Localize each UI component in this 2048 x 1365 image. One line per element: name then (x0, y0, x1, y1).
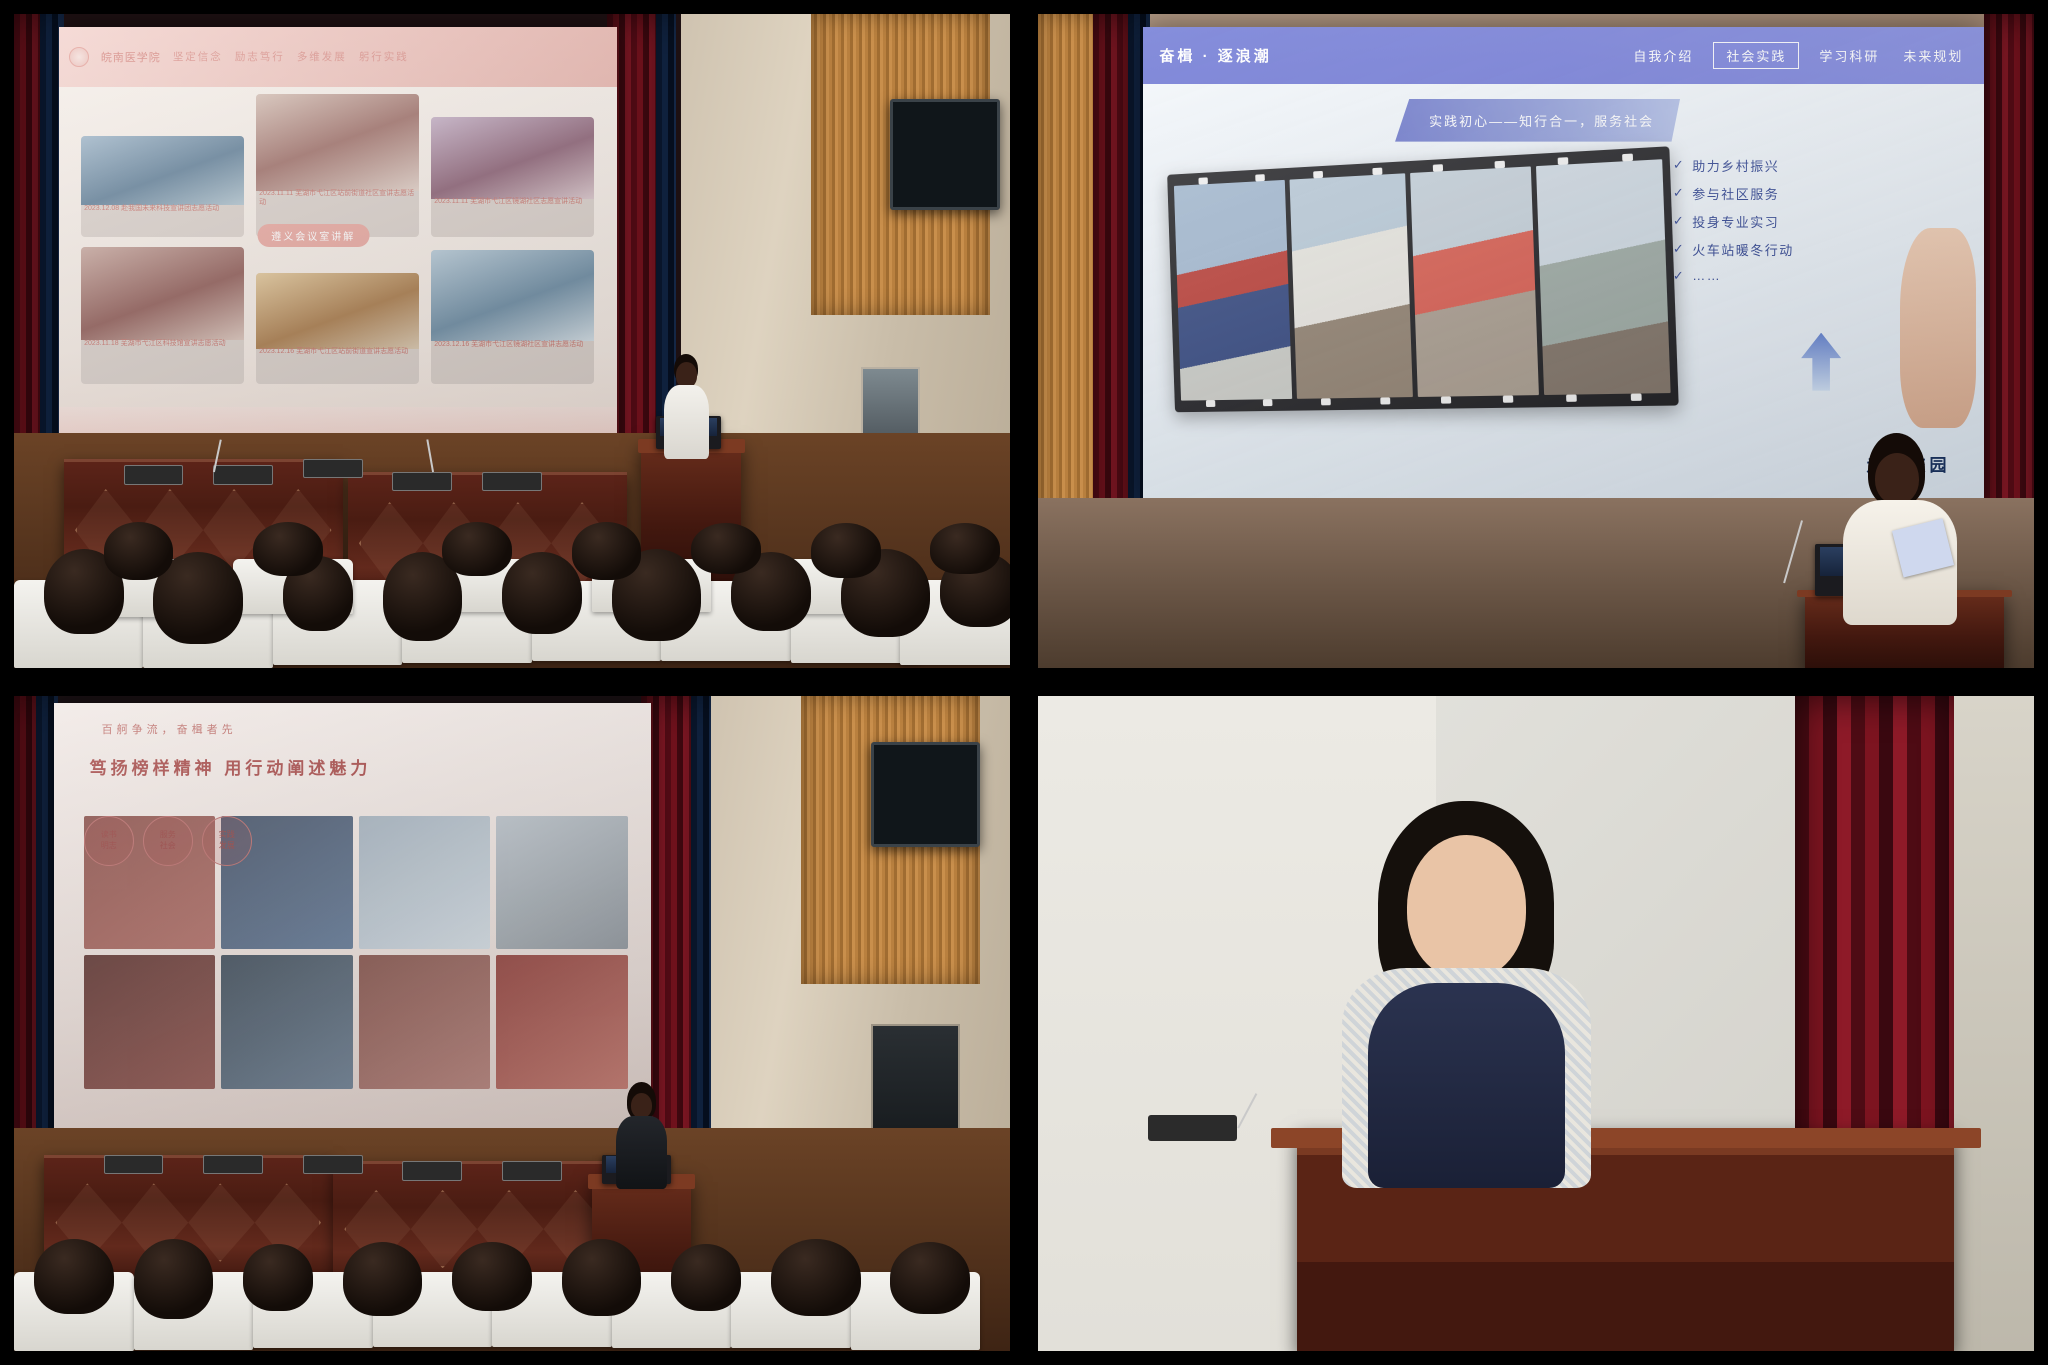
photo-caption: 2023.12.08 赴我国未来科技宣讲团志愿活动 (81, 203, 244, 237)
bullet-label: 火车站暖冬行动 (1692, 240, 1794, 259)
audience-head (691, 523, 761, 574)
presenter-female-closeup (1337, 801, 1596, 1181)
projection-screen: 百舸争流，奋楫者先 笃扬榜样精神 用行动阐述魅力 读 (54, 703, 652, 1175)
slogan-3: 多维发展 (297, 49, 347, 64)
slide-title: 奋楫 · 逐浪潮 (1159, 45, 1271, 66)
presenter-head (1875, 453, 1919, 504)
panel-bottom-left-photo: 百舸争流，奋楫者先 笃扬榜样精神 用行动阐述魅力 读 (14, 696, 1010, 1351)
panel-top-right: 奋楫 · 逐浪潮 自我介绍 社会实践 学习科研 未来规划 实践初心——知行合一，… (1024, 0, 2048, 682)
audience-head (442, 522, 512, 576)
circle-line-2: 发展 (219, 841, 235, 851)
slide-photo (359, 816, 490, 950)
panel-bottom-right-photo: ThinkPad (1038, 696, 2034, 1351)
audience-area (14, 1207, 1010, 1351)
bullet-label: 投身专业实习 (1692, 212, 1779, 231)
perforation (1503, 395, 1514, 402)
perforation (1321, 398, 1331, 405)
slide-photo (221, 955, 352, 1089)
bullet-item: ✓ 参与社区服务 (1673, 184, 1959, 203)
up-arrow-icon (1801, 333, 1841, 391)
presenter-female (612, 1082, 672, 1187)
photo-card: 2023.11.11 芜湖市弋江区镜湖社区志愿宣讲活动 (431, 117, 594, 238)
slogan-4: 躬行实践 (359, 49, 409, 64)
film-frame-outdoor-activity (1536, 159, 1671, 395)
check-icon: ✓ (1673, 241, 1685, 257)
audience-area (14, 498, 1010, 668)
slide-header-bar: 皖南医学院 坚定信念 励志笃行 多维发展 躬行实践 (59, 27, 617, 87)
circle-line-1: 实践 (219, 830, 235, 840)
audience-head (771, 1239, 861, 1317)
filmstrip-graphic (1168, 146, 1680, 412)
check-icon: ✓ (1673, 213, 1685, 229)
photo-card: 2023.11.18 芜湖市弋江区科技馆宣讲志愿活动 (81, 247, 244, 384)
audience-head (343, 1242, 423, 1317)
presenter-head (631, 1093, 653, 1118)
photo-caption: 2023.11.18 芜湖市弋江区科技馆宣讲志愿活动 (81, 338, 244, 385)
gooseneck-microphone (1148, 1115, 1238, 1141)
perforation (1206, 400, 1215, 407)
audience-head (572, 522, 642, 580)
panel-top-left: 皖南医学院 坚定信念 励志笃行 多维发展 躬行实践 2023.12.08 赴我国… (0, 0, 1024, 682)
perforation (1381, 397, 1391, 404)
perforation (1631, 394, 1642, 401)
college-name: 皖南医学院 (101, 49, 161, 65)
circle-line-1: 读书 (101, 830, 117, 840)
audience-head (104, 522, 174, 580)
slide-circle-badges: 读书 明志 服务 社会 实践 发展 (84, 816, 252, 866)
perforation (1441, 396, 1451, 403)
audience-head (243, 1244, 313, 1310)
equipment-rack (871, 1024, 961, 1142)
slide-tab-list: 自我介绍 社会实践 学习科研 未来规划 (1629, 42, 1967, 69)
photo-card: 2023.12.16 芜湖市弋江区镜湖社区宣讲志愿活动 (431, 250, 594, 384)
wall-display-screen (871, 742, 981, 847)
name-plate (203, 1155, 263, 1175)
bullet-label: 参与社区服务 (1692, 184, 1779, 203)
slide-center-label: 遵义会议室讲解 (257, 224, 369, 247)
name-plate (402, 1161, 462, 1181)
slide-section-banner: 实践初心——知行合一，服务社会 (1395, 99, 1680, 142)
photo-caption: 2023.12.16 芜湖市弋江区镜湖社区宣讲志愿活动 (431, 339, 594, 384)
name-plate (124, 465, 184, 485)
circle-line-1: 服务 (160, 830, 176, 840)
name-plate (482, 472, 542, 492)
audience-head (502, 552, 582, 634)
bullet-label: …… (1692, 268, 1721, 283)
photo-thumb (256, 273, 419, 348)
check-icon: ✓ (1673, 157, 1685, 173)
photo-caption: 2023.12.16 芜湖市弋江区站前街道宣讲志愿活动 (256, 346, 419, 384)
slide-photo (359, 955, 490, 1089)
name-plate (392, 472, 452, 492)
audience-head (811, 523, 881, 577)
slide-photo (496, 816, 627, 950)
circle-badge: 读书 明志 (84, 816, 134, 866)
presenter-shirt (664, 385, 709, 458)
bullet-item: ✓ 投身专业实习 (1673, 212, 1959, 231)
audience-head (562, 1239, 642, 1317)
perforation (1263, 399, 1273, 406)
circle-badge: 服务 社会 (143, 816, 193, 866)
presenter-head (676, 362, 698, 387)
photo-thumb (431, 117, 594, 199)
film-frame-volunteer-banner (1174, 180, 1292, 401)
slide-content: 百舸争流，奋楫者先 笃扬榜样精神 用行动阐述魅力 读 (54, 703, 652, 1175)
photo-thumb (81, 136, 244, 205)
photo-thumb (81, 247, 244, 340)
photo-caption: 2023.11.11 芜湖市弋江区镜湖社区志愿宣讲活动 (431, 196, 594, 237)
photo-thumb (431, 250, 594, 341)
audience-head (890, 1242, 970, 1314)
filmstrip-frames (1168, 159, 1679, 401)
panel-bottom-left: 百舸争流，奋楫者先 笃扬榜样精神 用行动阐述魅力 读 (0, 682, 1024, 1365)
panel-top-right-photo: 奋楫 · 逐浪潮 自我介绍 社会实践 学习科研 未来规划 实践初心——知行合一，… (1038, 14, 2034, 668)
projection-screen: 皖南医学院 坚定信念 励志笃行 多维发展 躬行实践 2023.12.08 赴我国… (59, 27, 617, 485)
panel-top-left-photo: 皖南医学院 坚定信念 励志笃行 多维发展 躬行实践 2023.12.08 赴我国… (14, 14, 1010, 668)
slide-photo (496, 955, 627, 1089)
tab-social-practice[interactable]: 社会实践 (1713, 42, 1799, 69)
slogan-2: 励志笃行 (235, 49, 285, 64)
tab-study-research[interactable]: 学习科研 (1815, 44, 1883, 67)
audience-head (253, 522, 323, 576)
name-plate (303, 459, 363, 479)
perforation (1567, 395, 1578, 402)
presenter-male (656, 354, 716, 459)
photo-card: 2023.12.16 芜湖市弋江区站前街道宣讲志愿活动 (256, 273, 419, 384)
slide-eyebrow: 百舸争流，奋楫者先 (102, 721, 237, 737)
panel-bottom-right: ThinkPad (1024, 682, 2048, 1365)
tab-future-plan[interactable]: 未来规划 (1899, 44, 1967, 67)
photo-collage: 皖南医学院 坚定信念 励志笃行 多维发展 躬行实践 2023.12.08 赴我国… (0, 0, 2048, 1365)
presenter-head (1407, 835, 1526, 979)
wall-stone-right (1954, 696, 2034, 1351)
slide-content: 皖南医学院 坚定信念 励志笃行 多维发展 躬行实践 2023.12.08 赴我国… (59, 27, 617, 485)
film-frame-street-volunteers (1410, 166, 1539, 397)
slogan-1: 坚定信念 (173, 49, 223, 64)
bullet-label: 助力乡村振兴 (1692, 156, 1779, 175)
photo-card: 2023.12.08 赴我国未来科技宣讲团志愿活动 (81, 136, 244, 237)
audience-head (34, 1239, 114, 1314)
name-plate (104, 1155, 164, 1175)
bullet-item: ✓ 助力乡村振兴 (1673, 156, 1959, 175)
name-plate (213, 465, 273, 485)
presenter-top (616, 1116, 666, 1189)
slide-photo (84, 955, 215, 1089)
presenter-vest (1368, 983, 1565, 1188)
presenter-female (1835, 433, 1964, 616)
check-icon: ✓ (1673, 185, 1685, 201)
circle-line-2: 明志 (101, 841, 117, 851)
audience-head (930, 523, 1000, 574)
name-plate (502, 1161, 562, 1181)
photo-card: 2023.11.11 芜湖市弋江区站前街道社区宣讲志愿活动 (256, 94, 419, 237)
check-icon: ✓ (1673, 268, 1685, 284)
audience-head (452, 1242, 532, 1311)
slide-heading: 笃扬榜样精神 用行动阐述魅力 (90, 754, 372, 779)
film-frame-service-station (1290, 173, 1413, 399)
photo-thumb (256, 94, 419, 192)
audience-head (134, 1239, 214, 1320)
raised-fist-photo (1900, 228, 1976, 429)
circle-line-2: 社会 (160, 841, 176, 851)
tab-self-intro[interactable]: 自我介绍 (1629, 44, 1697, 67)
circle-badge: 实践 发展 (202, 816, 252, 866)
college-emblem-icon (69, 47, 89, 67)
audience-head (671, 1244, 741, 1310)
slide-nav-bar: 奋楫 · 逐浪潮 自我介绍 社会实践 学习科研 未来规划 (1143, 27, 1985, 84)
name-plate (303, 1155, 363, 1175)
wall-display-screen (890, 99, 1000, 210)
